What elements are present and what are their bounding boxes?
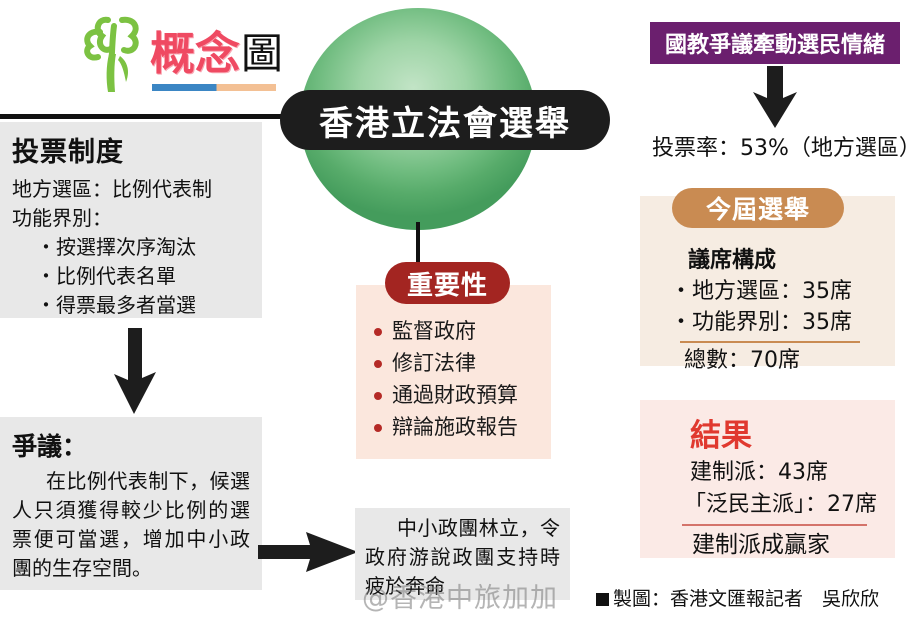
importance-item: 通過財政預算 xyxy=(370,379,551,411)
result-line: 「泛民主派」：27席 xyxy=(640,489,895,521)
seat-composition-item: ・功能界別：35席 xyxy=(640,307,895,338)
seat-total-text: 總數：70席 xyxy=(640,346,895,376)
importance-pill-label: 重要性 xyxy=(407,265,488,302)
voting-system-box: 投票制度 地方選區：比例代表制 功能界別： ・按選擇次序淘汰 ・比例代表名單 ・… xyxy=(0,122,262,318)
down-arrow-icon xyxy=(112,328,158,414)
page-title: 香港立法會選舉 xyxy=(319,96,571,145)
controversy-body: 在比例代表制下，候選人只須獲得較少比例的選票便可當選，增加中小政團的生存空間。 xyxy=(12,467,250,583)
voting-system-sub-item: ・得票最多者當選 xyxy=(12,291,252,320)
controversy-box: 爭議： 在比例代表制下，候選人只須獲得較少比例的選票便可當選，增加中小政團的生存… xyxy=(0,417,262,590)
brand-logo: 概念 圖 xyxy=(78,8,278,100)
result-divider xyxy=(682,524,867,526)
logo-text-diagram: 圖 xyxy=(241,30,283,78)
credit-line: 製圖：香港文匯報記者 吳欣欣 xyxy=(596,584,879,611)
importance-item: 辯論施政報告 xyxy=(370,411,551,443)
voting-system-title: 投票制度 xyxy=(12,130,252,169)
credit-square-bullet xyxy=(596,593,609,606)
importance-list: 監督政府 修訂法律 通過財政預算 辯論施政報告 xyxy=(356,285,551,443)
controversy-title: 爭議： xyxy=(12,427,250,463)
importance-pill: 重要性 xyxy=(385,262,510,304)
result-conclusion: 建制派成贏家 xyxy=(640,529,895,561)
importance-item: 修訂法律 xyxy=(370,347,551,379)
header-divider-rule xyxy=(0,114,296,119)
national-education-banner-label: 國教爭議牽動選民情緒 xyxy=(665,27,885,59)
down-arrow-icon xyxy=(752,66,798,128)
watermark-text: @香港中旅加加 xyxy=(362,576,558,615)
infographic-canvas: 概念 圖 香港立法會選舉 投票制度 地方選區：比例代表制 功能界別： ・按選擇次… xyxy=(0,0,907,620)
result-line: 建制派：43席 xyxy=(640,457,895,489)
importance-item: 監督政府 xyxy=(370,315,551,347)
seat-composition-item: ・地方選區：35席 xyxy=(640,276,895,307)
national-education-banner: 國教爭議牽動選民情緒 xyxy=(650,22,900,64)
logo-underline xyxy=(152,84,276,91)
voting-system-line: 地方選區：比例代表制 xyxy=(12,175,252,204)
credit-text: 製圖：香港文匯報記者 吳欣欣 xyxy=(613,588,879,610)
result-box: 結果 建制派：43席 「泛民主派」：27席 建制派成贏家 xyxy=(640,400,895,558)
voting-system-sub-item: ・比例代表名單 xyxy=(12,262,252,291)
voting-system-line: 功能界別： xyxy=(12,204,252,233)
importance-box: 監督政府 修訂法律 通過財政預算 辯論施政報告 xyxy=(356,285,551,459)
turnout-rate-text: 投票率：53%（地方選區） xyxy=(652,130,907,162)
result-title: 結果 xyxy=(640,400,895,457)
current-election-pill-label: 今屆選舉 xyxy=(706,190,810,226)
voting-system-sub-item: ・按選擇次序淘汰 xyxy=(12,233,252,262)
seat-total-divider xyxy=(680,341,860,343)
main-title-pill: 香港立法會選舉 xyxy=(280,90,610,150)
right-arrow-icon xyxy=(258,530,358,574)
green-brush-tree-icon xyxy=(78,10,152,96)
logo-text-concept: 概念 xyxy=(150,30,240,78)
current-election-pill: 今屆選舉 xyxy=(672,188,844,228)
